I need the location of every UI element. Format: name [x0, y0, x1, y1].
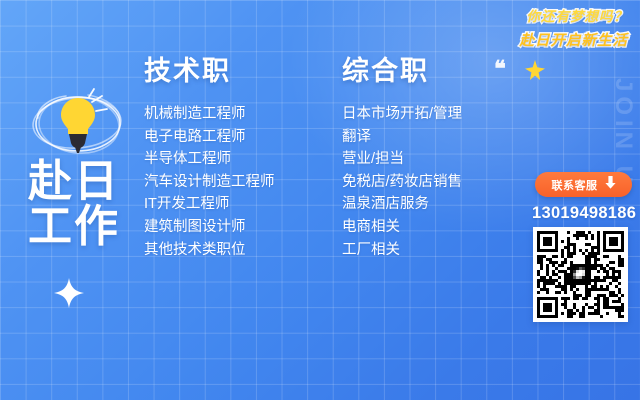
brand-title-line2: 工作	[28, 205, 120, 250]
column-technical-title: 技术职	[144, 58, 275, 85]
list-item: 日本市场开拓/管理	[342, 103, 462, 126]
list-item: 营业/担当	[342, 148, 462, 171]
qr-code[interactable]	[533, 227, 628, 322]
list-item: 工厂相关	[342, 239, 462, 262]
sparkle-star-icon	[52, 276, 86, 310]
slogan-block: 你还有梦想吗？ 赴日开启新生活	[520, 5, 629, 50]
sparkle-star-yellow-icon	[525, 60, 545, 80]
poster-root: 赴日 工作 技术职 机械制造工程师 电子电路工程师 半导体工程师 汽车设计制造工…	[0, 0, 640, 400]
contact-support-label: 联系客服	[552, 177, 598, 193]
lightbulb-icon	[26, 82, 130, 162]
column-general-list: 日本市场开拓/管理 翻译 营业/担当 免税店/药妆店销售 温泉酒店服务 电商相关…	[342, 103, 462, 261]
list-item: 机械制造工程师	[144, 103, 275, 126]
list-item: 汽车设计制造工程师	[144, 171, 275, 194]
phone-number: 13019498186	[532, 204, 632, 223]
list-item: 电子电路工程师	[144, 126, 275, 149]
column-general-title: 综合职	[342, 58, 462, 85]
list-item: 建筑制图设计师	[144, 216, 275, 239]
brand-title-line1: 赴日	[28, 160, 120, 205]
contact-support-button[interactable]: 联系客服	[535, 172, 632, 197]
list-item: 温泉酒店服务	[342, 193, 462, 216]
slogan-line-1: 你还有梦想吗？	[520, 5, 629, 25]
slogan-line-2: 赴日开启新生活	[520, 29, 629, 50]
list-item: 其他技术类职位	[144, 239, 275, 262]
list-item: 半导体工程师	[144, 148, 275, 171]
list-item: IT开发工程师	[144, 193, 275, 216]
quote-mark-icon: ❝	[494, 58, 506, 80]
list-item: 翻译	[342, 126, 462, 149]
column-general: 综合职 日本市场开拓/管理 翻译 营业/担当 免税店/药妆店销售 温泉酒店服务 …	[342, 58, 462, 261]
arrow-down-icon	[605, 176, 616, 194]
list-item: 免税店/药妆店销售	[342, 171, 462, 194]
list-item: 电商相关	[342, 216, 462, 239]
brand-title: 赴日 工作	[28, 160, 120, 250]
column-technical: 技术职 机械制造工程师 电子电路工程师 半导体工程师 汽车设计制造工程师 IT开…	[144, 58, 275, 261]
column-technical-list: 机械制造工程师 电子电路工程师 半导体工程师 汽车设计制造工程师 IT开发工程师…	[144, 103, 275, 261]
